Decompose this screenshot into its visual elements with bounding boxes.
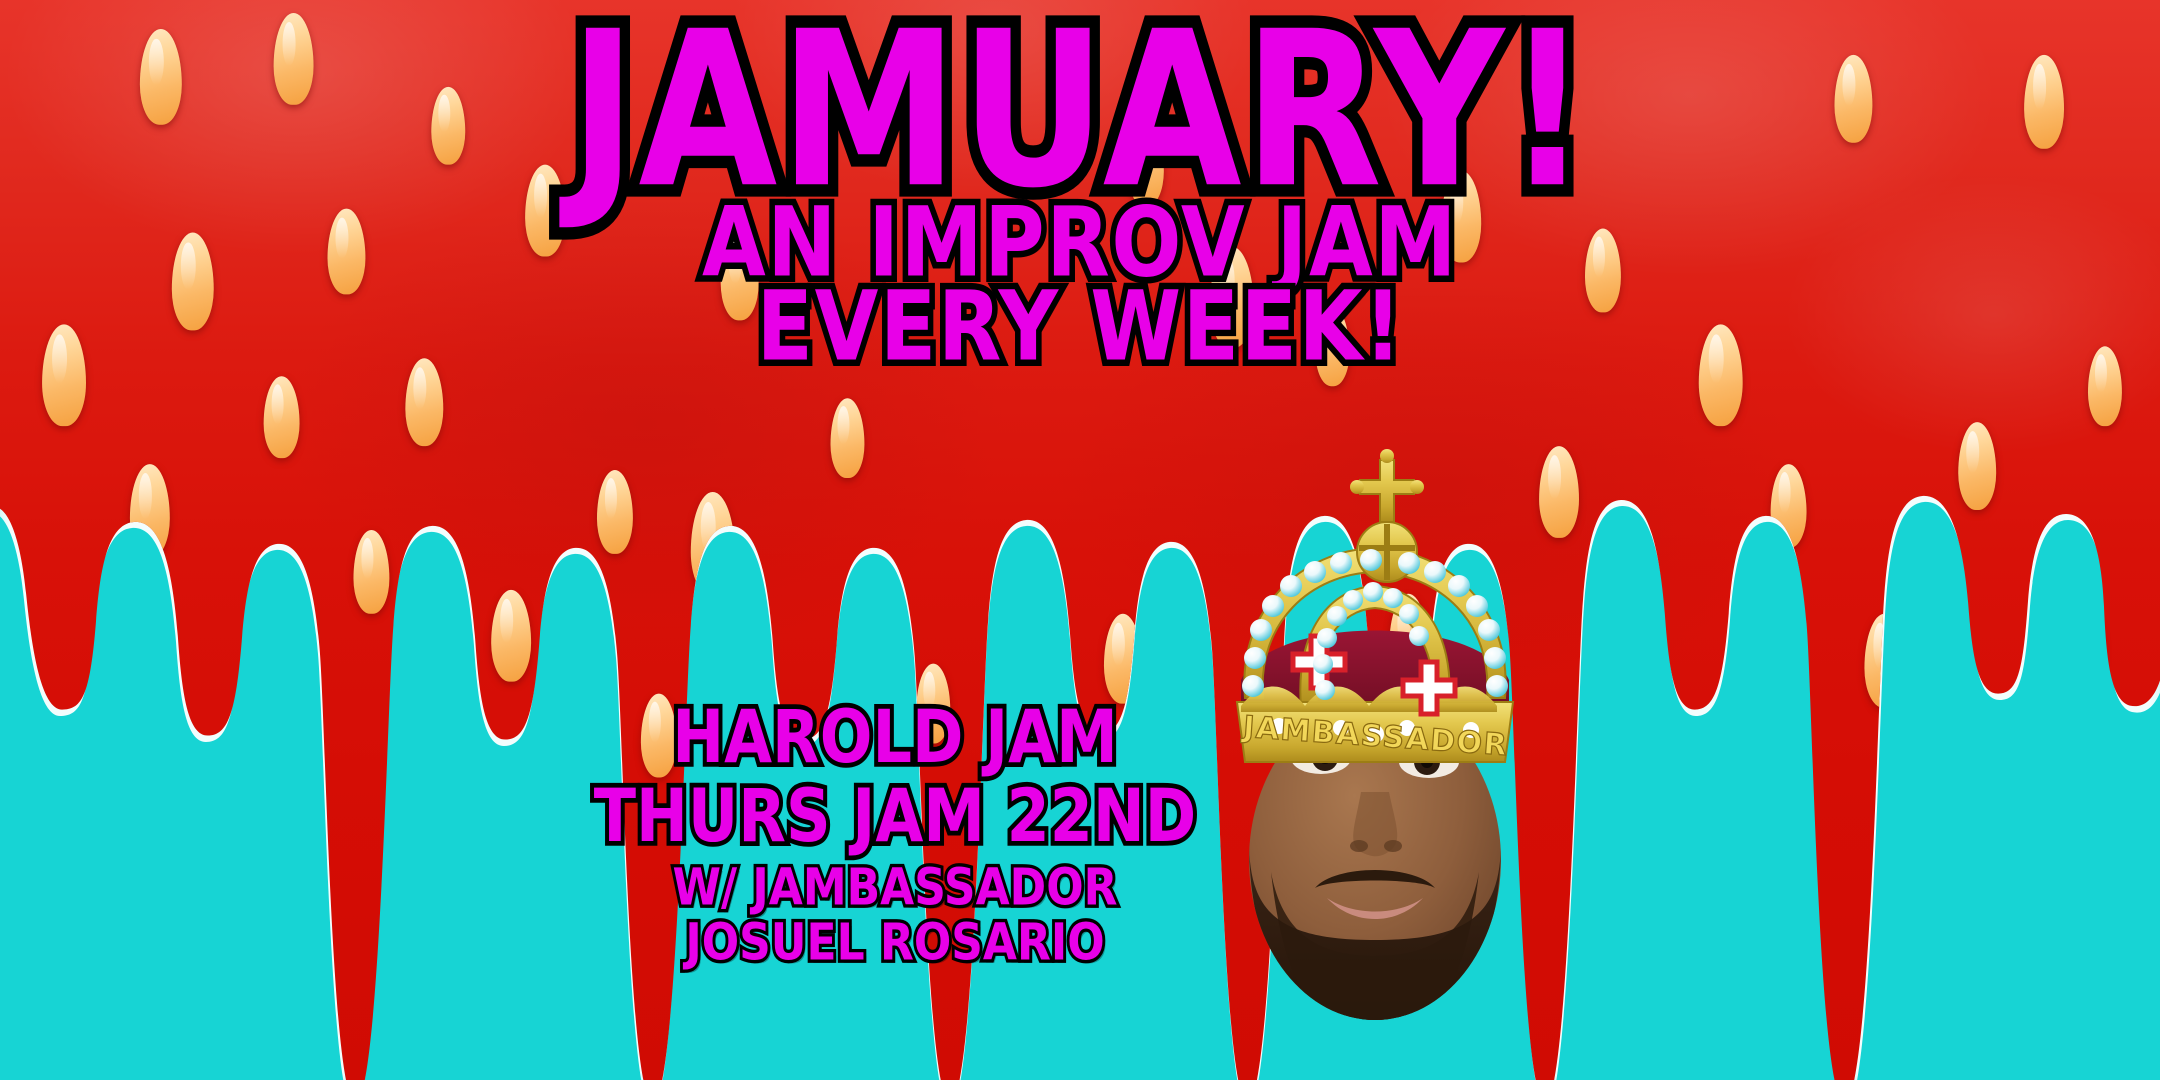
crown-and-face-svg: JAMBASSADOR bbox=[1175, 440, 1575, 1080]
event-host-label: W/ JAMBASSADOR bbox=[570, 858, 1220, 917]
crown-icon: JAMBASSADOR bbox=[1237, 449, 1513, 763]
event-details-block: HAROLD JAM THURS JAM 22ND W/ JAMBASSADOR… bbox=[570, 700, 1220, 968]
jamuary-promo-poster: JAMBASSADOR JAMUARY! AN IMPROV JAM EVERY… bbox=[0, 0, 2160, 1080]
event-name: HAROLD JAM bbox=[570, 693, 1220, 779]
event-date: THURS JAM 22ND bbox=[570, 772, 1220, 858]
jambassador-king-graphic: JAMBASSADOR bbox=[1175, 440, 1575, 1080]
event-host-name: JOSUEL ROSARIO bbox=[570, 913, 1220, 972]
